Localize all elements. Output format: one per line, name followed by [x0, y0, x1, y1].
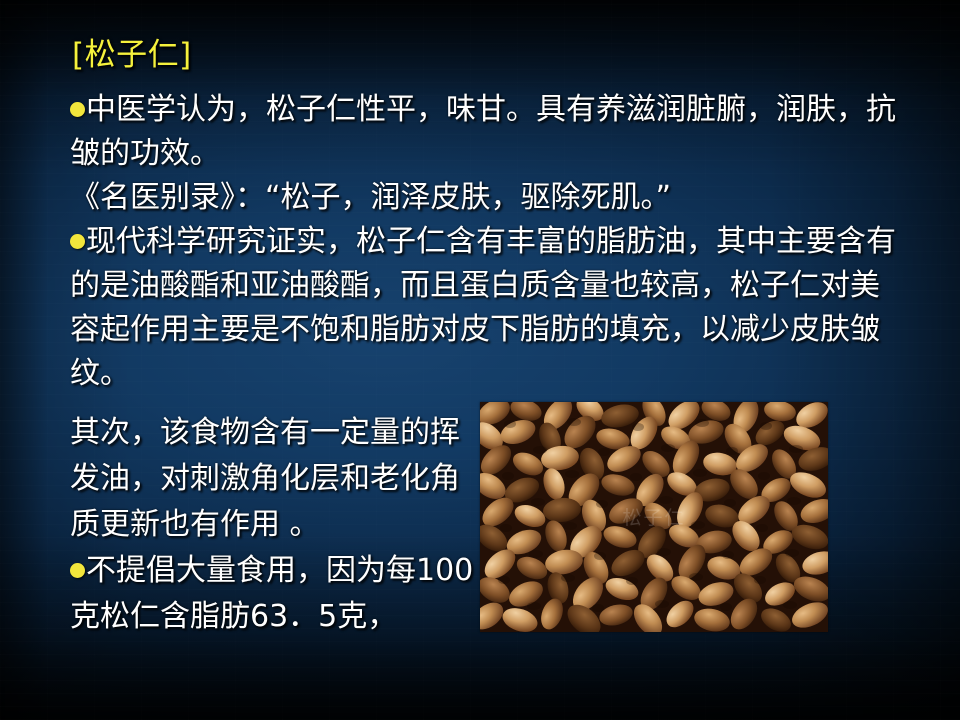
paragraph-text: 不提倡大量食用，因为每100克松仁含脂肪63．5克， [70, 553, 473, 634]
paragraph-text: 现代科学研究证实，松子仁含有丰富的脂肪油，其中主要含有的是油酸酯和亚油酸酯，而且… [70, 224, 896, 391]
paragraph-text: 中医学认为，松子仁性平，味甘。具有养滋润脏腑，润肤，抗皱的功效。 [70, 92, 896, 171]
paragraph-text: 《名医别录》：“松子，润泽皮肤，驱除死肌。” [70, 180, 671, 215]
paragraph: 《名医别录》：“松子，润泽皮肤，驱除死肌。” [70, 176, 900, 220]
bullet-icon [70, 102, 85, 117]
paragraph: 现代科学研究证实，松子仁含有丰富的脂肪油，其中主要含有的是油酸酯和亚油酸酯，而且… [70, 220, 900, 396]
slide-canvas: [松子仁] 中医学认为，松子仁性平，味甘。具有养滋润脏腑，润肤，抗皱的功效。 《… [0, 0, 960, 720]
bullet-icon [70, 234, 85, 249]
paragraph: 其次，该食物含有一定量的挥发油，对刺激角化层和老化角质更新也有作用 。 [70, 410, 480, 548]
paragraph-text: 其次，该食物含有一定量的挥发油，对刺激角化层和老化角质更新也有作用 。 [70, 415, 460, 542]
slide-title: [松子仁] [72, 39, 192, 72]
slide-content: [松子仁] 中医学认为，松子仁性平，味甘。具有养滋润脏腑，润肤，抗皱的功效。 《… [0, 0, 960, 720]
body-text-lower: 其次，该食物含有一定量的挥发油，对刺激角化层和老化角质更新也有作用 。 不提倡大… [70, 410, 480, 640]
paragraph: 中医学认为，松子仁性平，味甘。具有养滋润脏腑，润肤，抗皱的功效。 [70, 88, 900, 176]
body-text-upper: 中医学认为，松子仁性平，味甘。具有养滋润脏腑，润肤，抗皱的功效。 《名医别录》：… [70, 88, 900, 396]
bullet-icon [70, 563, 85, 578]
pine-nuts-illustration [480, 402, 828, 632]
paragraph: 不提倡大量食用，因为每100克松仁含脂肪63．5克， [70, 548, 480, 640]
pine-nuts-photo: 松子仁 [480, 402, 828, 632]
